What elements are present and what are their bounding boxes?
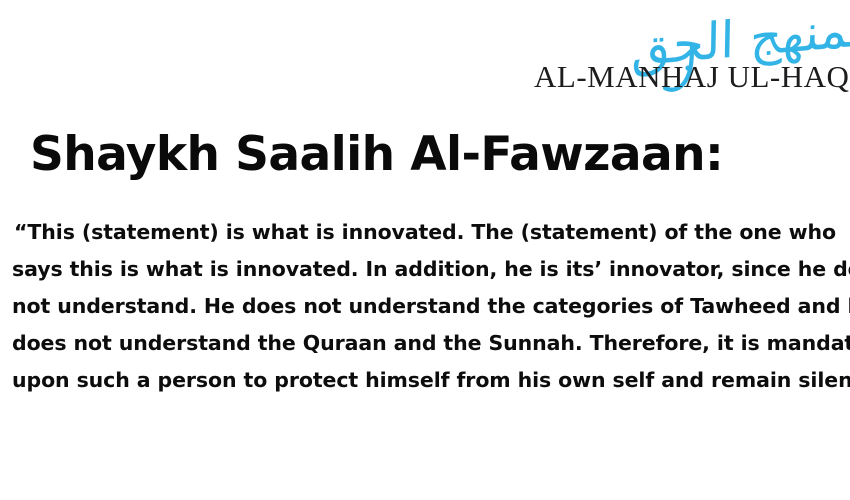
al-manhaj-ul-haqq-logo: المنهج الحق AL-MANHAJ UL-HAQQ <box>520 0 850 108</box>
logo-latin-wordmark: AL-MANHAJ UL-HAQQ <box>534 58 850 96</box>
quote-graphic-canvas: المنهج الحق AL-MANHAJ UL-HAQQ Shaykh Saa… <box>0 0 850 500</box>
quote-line: upon such a person to protect himself fr… <box>12 362 838 399</box>
quote-line: says this is what is innovated. In addit… <box>12 251 838 288</box>
quote-block: “This (statement) is what is innovated. … <box>12 214 838 399</box>
quote-line: not understand. He does not understand t… <box>12 288 838 325</box>
page-title: Shaykh Saalih Al-Fawzaan: <box>30 127 820 183</box>
quote-line: “This (statement) is what is innovated. … <box>12 214 838 251</box>
quote-line: does not understand the Quraan and the S… <box>12 325 838 362</box>
